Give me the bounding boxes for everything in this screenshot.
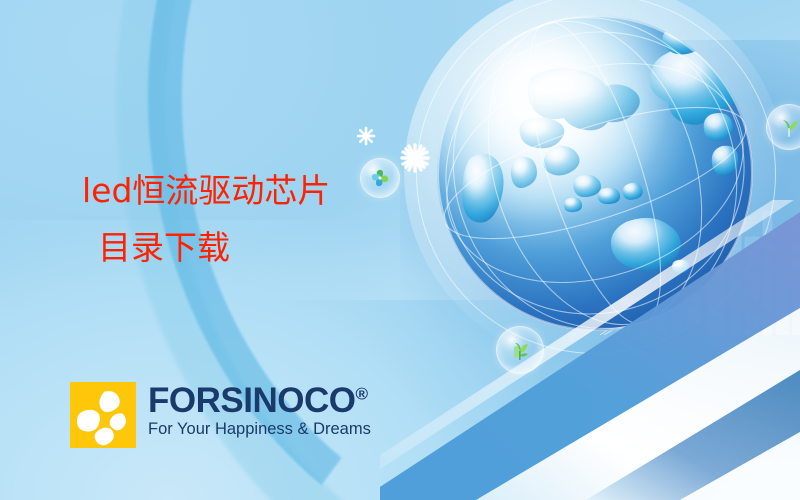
headline-line-1: led恒流驱动芯片: [82, 163, 412, 220]
headline-text: led恒流驱动芯片 目录下载: [82, 163, 412, 277]
diagonal-bands-decoration: [380, 200, 800, 500]
headline-line-2: 目录下载: [82, 220, 412, 277]
registered-trademark-mark: ®: [355, 384, 368, 403]
bubble-edge: [766, 104, 800, 150]
logo-text-block: FORSINOCO® For Your Happiness & Dreams: [148, 382, 371, 439]
company-logo[interactable]: FORSINOCO® For Your Happiness & Dreams: [70, 382, 371, 448]
promo-banner: led恒流驱动芯片 目录下载 FORSINOCO® For Your Happi…: [0, 0, 800, 500]
four-petal-pinwheel-icon: [70, 382, 136, 448]
logo-wordmark: FORSINOCO®: [148, 383, 371, 419]
asterisk-flower-small-icon: [356, 126, 376, 146]
logo-wordmark-name: FORSINOCO: [148, 381, 355, 420]
leaf-icon: [777, 115, 800, 139]
logo-tagline: For Your Happiness & Dreams: [148, 419, 371, 439]
